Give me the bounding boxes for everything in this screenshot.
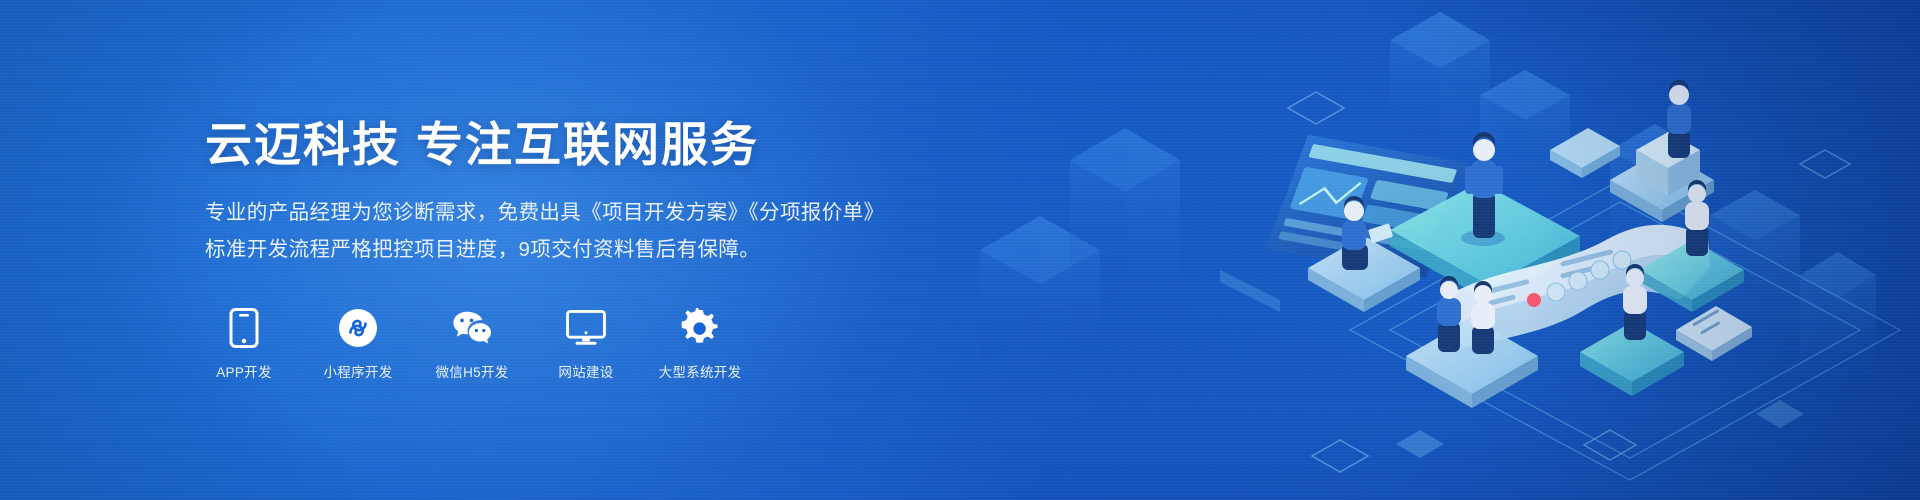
service-label: 小程序开发 — [324, 361, 393, 381]
smartphone-icon — [224, 308, 264, 348]
mini-program-icon — [338, 308, 378, 348]
banner-content: 云迈科技 专注互联网服务 专业的产品经理为您诊断需求，免费出具《项目开发方案》《… — [205, 0, 965, 500]
wechat-icon — [452, 308, 492, 348]
gear-icon — [680, 308, 720, 348]
service-label: APP开发 — [216, 361, 272, 381]
subtitle-block: 专业的产品经理为您诊断需求，免费出具《项目开发方案》《分项报价单》 标准开发流程… — [205, 195, 965, 268]
service-item-large-system[interactable]: 大型系统开发 — [661, 308, 739, 381]
service-label: 大型系统开发 — [659, 361, 742, 381]
hero-banner: 云迈科技 专注互联网服务 专业的产品经理为您诊断需求，免费出具《项目开发方案》《… — [0, 0, 1920, 500]
service-item-website[interactable]: 网站建设 — [547, 308, 625, 381]
service-item-mini-program[interactable]: 小程序开发 — [319, 308, 397, 381]
service-label: 网站建设 — [558, 361, 613, 381]
page-title: 云迈科技 专注互联网服务 — [205, 119, 965, 172]
isometric-illustration — [920, 0, 1920, 500]
service-label: 微信H5开发 — [435, 361, 508, 381]
monitor-icon — [566, 308, 606, 348]
service-item-app[interactable]: APP开发 — [205, 308, 283, 381]
service-item-wechat-h5[interactable]: 微信H5开发 — [433, 308, 511, 381]
subtitle-line-2: 标准开发流程严格把控项目进度，9项交付资料售后有保障。 — [205, 232, 965, 268]
subtitle-line-1: 专业的产品经理为您诊断需求，免费出具《项目开发方案》《分项报价单》 — [205, 195, 965, 231]
service-list: APP开发 小程序开发 — [205, 308, 965, 381]
